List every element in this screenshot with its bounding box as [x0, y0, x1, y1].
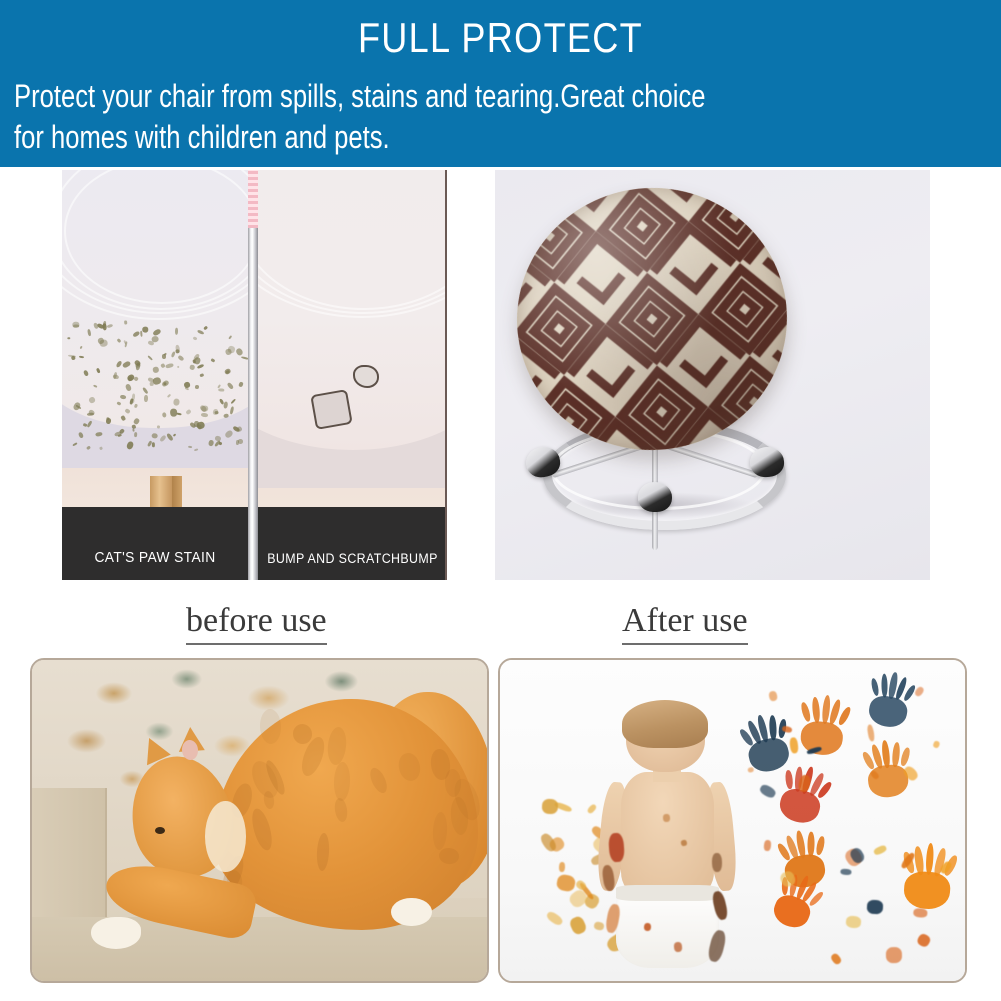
handprint-finger	[913, 845, 924, 874]
stain-speck	[151, 433, 157, 439]
stain-speck	[208, 440, 214, 447]
page-title: FULL PROTECT	[70, 14, 931, 62]
handprint-finger	[768, 715, 776, 740]
stain-speck	[118, 434, 122, 438]
stain-speck	[83, 423, 87, 427]
stain-speck	[124, 320, 127, 324]
stain-speck	[79, 355, 84, 358]
scratch-mark-small	[353, 365, 379, 388]
stain-speck	[96, 431, 103, 436]
stain-speck	[173, 398, 180, 405]
stool-seat-cover	[504, 175, 800, 464]
after-use-caption-text: After use	[622, 602, 748, 645]
paint-blob	[845, 915, 861, 928]
stain-speck	[236, 426, 243, 432]
stain-speck	[144, 395, 148, 402]
stain-speck	[142, 326, 148, 332]
cat-eye	[155, 827, 165, 834]
child-torso	[621, 772, 714, 894]
stool-caster	[638, 482, 673, 513]
stain-speck	[87, 445, 92, 450]
stain-speck	[73, 442, 78, 446]
before-use-panel: CAT'S PAW STAIN BUMP AND SCRATCHBUMP	[62, 170, 447, 580]
stain-speck	[152, 442, 155, 447]
paint-blob	[885, 947, 901, 963]
paint-blob	[840, 868, 852, 874]
banner-subtitle: Protect your chair from spills, stains a…	[14, 76, 806, 158]
stain-speck	[238, 438, 244, 444]
child-hair	[622, 700, 708, 748]
handprint-finger	[815, 835, 825, 855]
stain-speck	[218, 388, 224, 391]
handprint-finger	[899, 746, 911, 766]
product-marketing-image: FULL PROTECT Protect your chair from spi…	[0, 0, 1001, 1001]
chrome-pole-divider	[248, 170, 258, 580]
after-use-caption: After use	[622, 602, 748, 640]
stain-speck	[132, 424, 137, 429]
paint-smear	[712, 852, 723, 871]
pink-edge-strip	[248, 170, 258, 228]
stain-speck	[78, 432, 84, 439]
handprint-finger	[870, 677, 880, 696]
stain-speck	[188, 446, 192, 449]
handprint-finger	[881, 674, 888, 698]
use-case-photo-child	[498, 658, 967, 983]
handprint-finger	[881, 739, 891, 768]
stain-speck	[87, 421, 93, 429]
handprint	[794, 689, 854, 762]
stain-speck	[134, 432, 138, 437]
handprint-finger	[799, 702, 811, 723]
handprint-finger	[811, 697, 820, 724]
before-caption-bar-2: BUMP AND SCRATCHBUMP	[258, 507, 447, 580]
use-case-photo-cat	[30, 658, 489, 983]
stain-speck	[120, 394, 127, 399]
stain-speck	[194, 448, 199, 452]
handprint-finger	[925, 842, 935, 875]
before-caption-bar-1: CAT'S PAW STAIN	[62, 507, 248, 580]
damage-label-bump: BUMP AND SCRATCHBUMP	[266, 551, 440, 566]
paint-blob	[913, 908, 928, 918]
child-diaper-band	[616, 885, 718, 901]
cat-paw	[91, 917, 141, 949]
stain-speck	[194, 420, 199, 426]
handprint	[897, 838, 961, 916]
handprint-palm	[902, 871, 950, 911]
handprint-finger	[785, 769, 794, 789]
handprint-finger	[891, 742, 900, 768]
stain-speck	[72, 321, 80, 327]
stain-speck	[224, 429, 234, 439]
stain-speck	[100, 447, 104, 451]
header-banner: FULL PROTECT Protect your chair from spi…	[0, 0, 1001, 167]
seat-ring	[258, 170, 447, 310]
stain-speck	[170, 408, 177, 416]
stain-speck	[173, 433, 177, 436]
after-use-panel	[495, 170, 930, 580]
panel-edge-line	[445, 170, 447, 580]
before-use-caption-text: before use	[186, 602, 327, 645]
before-stain-photo: CAT'S PAW STAIN	[62, 170, 248, 580]
stain-speck	[140, 331, 143, 337]
stain-speck	[125, 440, 134, 450]
paint-smear	[663, 814, 670, 822]
before-use-caption: before use	[186, 602, 327, 640]
cat-chest-fur	[205, 801, 246, 872]
stain-speck	[223, 413, 229, 418]
before-scratch-photo: BUMP AND SCRATCHBUMP	[258, 170, 447, 580]
damage-label-stain: CAT'S PAW STAIN	[69, 549, 240, 566]
handprint-finger	[807, 831, 814, 856]
bump-mark-large	[310, 389, 353, 430]
stain-speck	[163, 382, 167, 385]
handprint-palm	[799, 719, 844, 757]
